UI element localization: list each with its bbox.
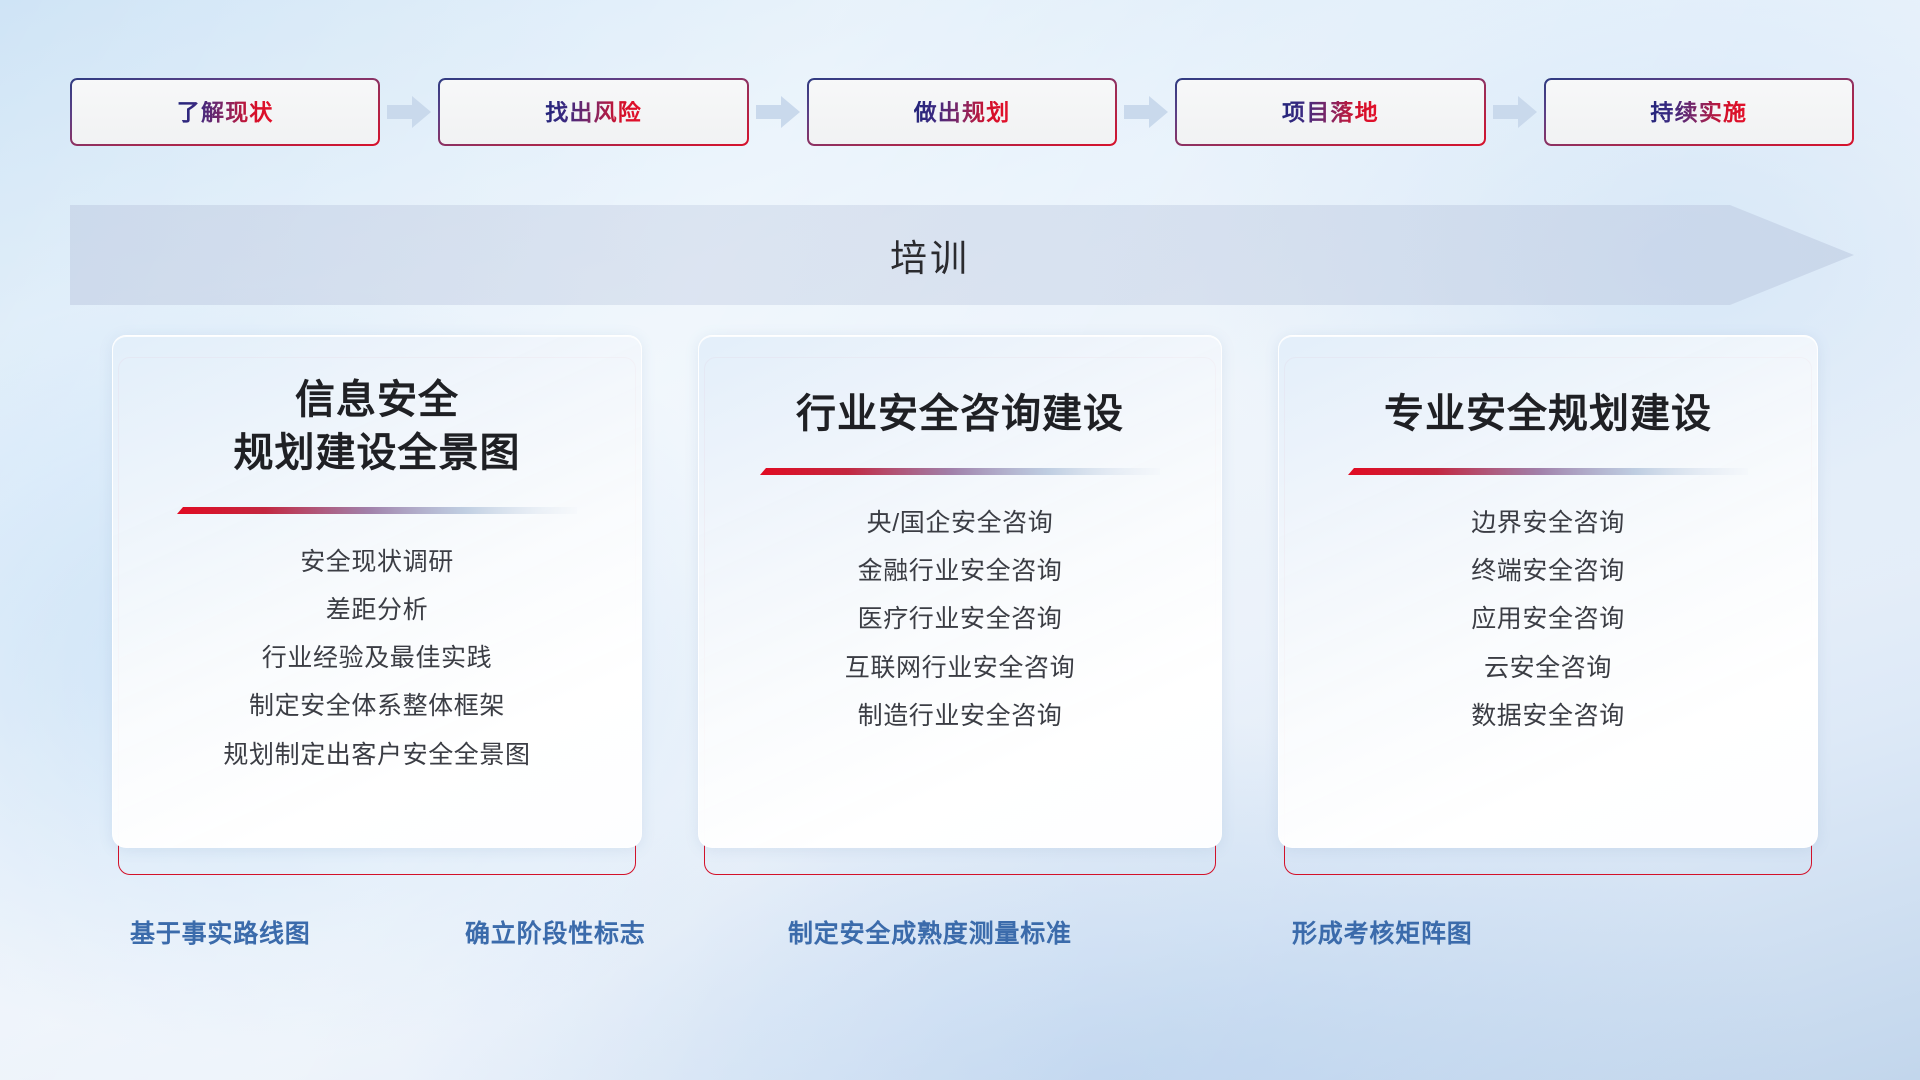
card-3-divider xyxy=(1279,467,1817,481)
card-1-list: 安全现状调研 差距分析 行业经验及最佳实践 制定安全体系整体框架 规划制定出客户… xyxy=(113,544,641,773)
banner-title: 培训 xyxy=(70,205,1790,305)
list-item: 制定安全体系整体框架 xyxy=(249,688,505,724)
step-box-5[interactable]: 持续实施 xyxy=(1544,78,1854,146)
footnote-row: 基于事实路线图 确立阶段性标志 制定安全成熟度测量标准 形成考核矩阵图 xyxy=(0,912,1920,956)
card-3[interactable]: 专业安全规划建设 xyxy=(1278,335,1818,875)
arrow-right-icon-2 xyxy=(749,92,807,132)
card-row: 信息安全 规划建设全景图 xyxy=(112,335,1818,875)
list-item: 云安全咨询 xyxy=(1484,650,1612,686)
card-3-list: 边界安全咨询 终端安全咨询 应用安全咨询 云安全咨询 数据安全咨询 xyxy=(1279,505,1817,734)
card-2[interactable]: 行业安全咨询建设 xyxy=(698,335,1222,875)
list-item: 规划制定出客户安全全景图 xyxy=(223,737,530,773)
list-item: 终端安全咨询 xyxy=(1471,553,1625,589)
arrow-right-icon-1 xyxy=(380,92,438,132)
card-1-surface: 信息安全 规划建设全景图 xyxy=(112,335,642,848)
footnote-2: 确立阶段性标志 xyxy=(465,912,646,956)
step-label-4: 项目落地 xyxy=(1282,101,1379,124)
card-2-title: 行业安全咨询建设 xyxy=(796,388,1124,441)
card-3-surface: 专业安全规划建设 xyxy=(1278,335,1818,848)
step-box-2[interactable]: 找出风险 xyxy=(438,78,748,146)
card-1-divider xyxy=(113,506,641,520)
card-2-surface: 行业安全咨询建设 xyxy=(698,335,1222,848)
list-item: 数据安全咨询 xyxy=(1471,698,1625,734)
card-2-list: 央/国企安全咨询 金融行业安全咨询 医疗行业安全咨询 互联网行业安全咨询 制造行… xyxy=(699,505,1221,734)
list-item: 央/国企安全咨询 xyxy=(867,505,1054,541)
card-2-divider xyxy=(699,467,1221,481)
footnote-3: 制定安全成熟度测量标准 xyxy=(788,912,1072,956)
card-3-title: 专业安全规划建设 xyxy=(1384,388,1712,441)
step-label-5: 持续实施 xyxy=(1650,101,1747,124)
list-item: 医疗行业安全咨询 xyxy=(858,601,1063,637)
step-box-3[interactable]: 做出规划 xyxy=(807,78,1117,146)
list-item: 制造行业安全咨询 xyxy=(858,698,1063,734)
step-label-3: 做出规划 xyxy=(914,101,1011,124)
arrow-right-icon-4 xyxy=(1486,92,1544,132)
list-item: 差距分析 xyxy=(326,592,428,628)
list-item: 安全现状调研 xyxy=(300,544,454,580)
card-1[interactable]: 信息安全 规划建设全景图 xyxy=(112,335,642,875)
step-label-2: 找出风险 xyxy=(545,101,642,124)
step-box-1[interactable]: 了解现状 xyxy=(70,78,380,146)
list-item: 边界安全咨询 xyxy=(1471,505,1625,541)
list-item: 应用安全咨询 xyxy=(1471,601,1625,637)
card-1-title: 信息安全 规划建设全景图 xyxy=(234,374,521,480)
list-item: 金融行业安全咨询 xyxy=(858,553,1063,589)
footnote-4: 形成考核矩阵图 xyxy=(1292,912,1473,956)
slide-canvas: 了解现状 找出风险 做出规划 项目落地 xyxy=(0,0,1920,1080)
training-banner: 培训 xyxy=(70,205,1854,305)
card-gap-1 xyxy=(642,335,698,875)
step-box-4[interactable]: 项目落地 xyxy=(1175,78,1485,146)
list-item: 行业经验及最佳实践 xyxy=(262,640,492,676)
arrow-right-icon-3 xyxy=(1117,92,1175,132)
list-item: 互联网行业安全咨询 xyxy=(845,650,1075,686)
card-gap-2 xyxy=(1222,335,1278,875)
process-step-row: 了解现状 找出风险 做出规划 项目落地 xyxy=(70,78,1854,146)
footnote-1: 基于事实路线图 xyxy=(130,912,311,956)
step-label-1: 了解现状 xyxy=(177,101,274,124)
